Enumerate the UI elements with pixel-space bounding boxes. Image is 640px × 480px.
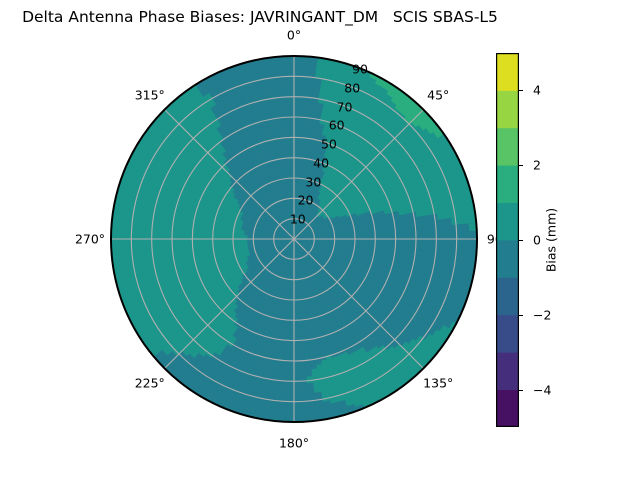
angular-tick-45: 45°	[427, 87, 449, 102]
figure-canvas: Delta Antenna Phase Biases: JAVRINGANT_D…	[0, 0, 640, 480]
colorbar-gradient	[496, 53, 519, 427]
colorbar	[496, 53, 519, 427]
angular-tick-180: 180°	[279, 436, 309, 451]
colorbar-tick-mark	[519, 390, 523, 391]
angular-tick-270: 270°	[75, 232, 105, 247]
colorbar-tick-mark	[519, 240, 523, 241]
radial-tick-70: 70	[337, 99, 353, 114]
colorbar-tick-label: 4	[533, 83, 541, 98]
angular-tick-135: 135°	[423, 376, 453, 391]
angular-tick-225: 225°	[135, 376, 165, 391]
radial-tick-60: 60	[329, 118, 345, 133]
angular-tick-0: 0°	[287, 28, 301, 43]
radial-tick-20: 20	[298, 193, 314, 208]
angular-tick-315: 315°	[135, 87, 165, 102]
radial-tick-80: 80	[344, 80, 360, 95]
colorbar-tick-mark	[519, 165, 523, 166]
colorbar-tick-label: 0	[533, 233, 541, 248]
radial-tick-10: 10	[290, 212, 306, 227]
colorbar-tick-mark	[519, 90, 523, 91]
colorbar-axis-label: Bias (mm)	[544, 208, 559, 272]
colorbar-tick-label: −2	[533, 307, 551, 322]
colorbar-tick-label: −4	[533, 382, 551, 397]
polar-grid-layer	[111, 56, 477, 422]
radial-tick-50: 50	[321, 137, 337, 152]
colorbar-tick-mark	[519, 315, 523, 316]
radial-tick-90: 90	[352, 61, 368, 76]
polar-axes: 0°45°90°135°180°225°270°315° 10203040506…	[110, 55, 478, 423]
polar-plot-svg	[110, 55, 478, 423]
colorbar-tick-label: 2	[533, 158, 541, 173]
radial-tick-40: 40	[313, 155, 329, 170]
chart-title: Delta Antenna Phase Biases: JAVRINGANT_D…	[0, 8, 520, 26]
radial-tick-30: 30	[305, 174, 321, 189]
